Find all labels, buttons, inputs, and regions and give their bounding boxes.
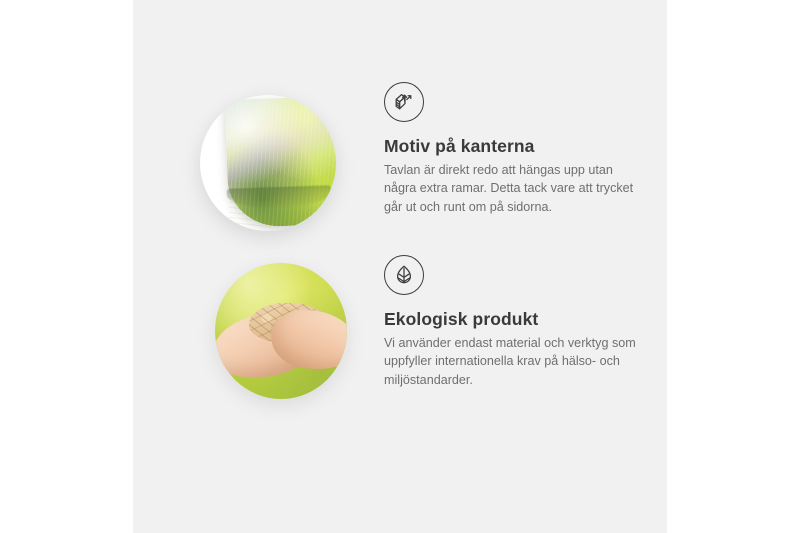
feature-title: Motiv på kanterna (384, 136, 652, 157)
canvas-print-artwork (225, 96, 336, 228)
product-feature-panel: Motiv på kanterna Tavlan är direkt redo … (133, 0, 667, 533)
feature-body: Vi använder endast material och verktyg … (384, 334, 636, 389)
canvas-wrapped-edge-icon (384, 82, 424, 122)
feature-body: Tavlan är direkt redo att hängas upp uta… (384, 161, 636, 216)
feature-title: Ekologisk produkt (384, 309, 652, 330)
leaf-icon (384, 255, 424, 295)
canvas-print-thumbnail (200, 95, 336, 231)
feature-copy-1: Motiv på kanterna Tavlan är direkt redo … (384, 82, 652, 216)
feature-row-ekologisk-produkt: Ekologisk produkt Vi använder endast mat… (133, 255, 667, 445)
feature-copy-2: Ekologisk produkt Vi använder endast mat… (384, 255, 652, 389)
wood-chips-thumbnail (215, 263, 347, 399)
screenshot-root: Motiv på kanterna Tavlan är direkt redo … (0, 0, 800, 533)
feature-row-motiv-pa-kanterna: Motiv på kanterna Tavlan är direkt redo … (133, 70, 667, 260)
